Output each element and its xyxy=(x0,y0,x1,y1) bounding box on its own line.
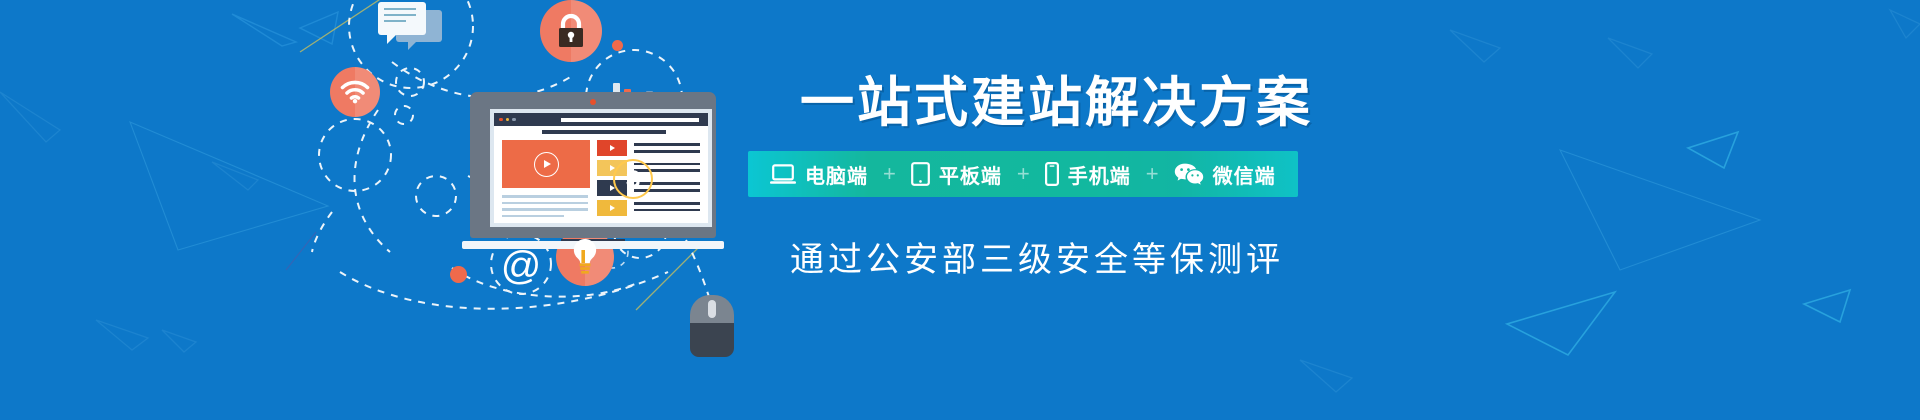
laptop-mockup xyxy=(462,92,724,258)
device-item-wechat: 微信端 xyxy=(1168,160,1282,189)
chat-bubble-icon xyxy=(378,2,444,50)
phone-icon xyxy=(1045,162,1059,186)
accent-dot xyxy=(450,266,467,283)
banner-content: 一站式建站解决方案 电脑端 + xyxy=(748,0,1920,420)
device-item-tablet: 平板端 xyxy=(905,160,1008,189)
plus-separator: + xyxy=(1137,161,1168,187)
banner-headline: 一站式建站解决方案 xyxy=(800,58,1400,137)
video-player xyxy=(502,140,590,188)
promo-banner: $ @ xyxy=(0,0,1920,420)
device-support-bar: 电脑端 + 平板端 + xyxy=(748,151,1298,197)
tablet-icon xyxy=(911,162,930,186)
browser-titlebar xyxy=(494,113,708,126)
play-button-icon xyxy=(534,152,559,177)
banner-subline: 通过公安部三级安全等保测评 xyxy=(790,232,1284,281)
mouse-icon xyxy=(690,295,734,357)
device-label: 电脑端 xyxy=(805,160,868,189)
accent-dot xyxy=(612,40,623,51)
browser-window xyxy=(494,113,708,223)
laptop-icon xyxy=(770,164,796,185)
device-item-desktop: 电脑端 xyxy=(764,160,874,189)
hero-video-column xyxy=(502,140,590,217)
window-close-dot xyxy=(499,118,503,122)
window-maximize-dot xyxy=(512,118,516,122)
device-label: 手机端 xyxy=(1068,160,1131,189)
device-item-phone: 手机端 xyxy=(1039,160,1137,189)
thumbnail-item xyxy=(597,140,627,156)
lock-icon xyxy=(540,0,602,62)
webcam-dot xyxy=(590,99,596,105)
wechat-icon xyxy=(1174,162,1204,186)
wifi-icon xyxy=(330,67,380,117)
thumbnail-item xyxy=(597,200,627,216)
device-label: 微信端 xyxy=(1213,160,1276,189)
device-label: 平板端 xyxy=(939,160,1002,189)
address-bar xyxy=(561,118,700,122)
window-minimize-dot xyxy=(506,118,510,122)
dollar-glyph: $ xyxy=(613,159,653,199)
plus-separator: + xyxy=(874,161,905,187)
plus-separator: + xyxy=(1008,161,1039,187)
